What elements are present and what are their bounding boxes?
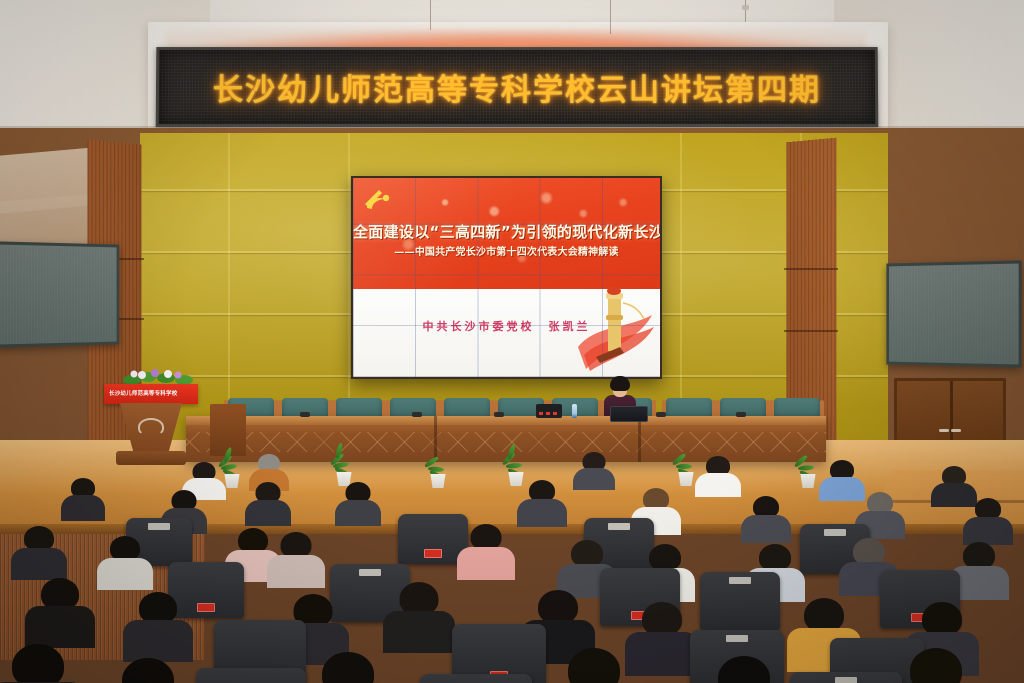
ceiling-wire <box>745 0 746 22</box>
water-bottle <box>572 404 577 418</box>
audience-area <box>0 452 1024 683</box>
seat-number-tag <box>824 529 846 536</box>
audience-member <box>382 582 456 650</box>
golden-column-graphic-icon <box>578 285 656 371</box>
microphone[interactable] <box>494 412 504 417</box>
auditorium-seat[interactable] <box>420 674 532 683</box>
podium-crest-icon <box>138 418 164 436</box>
door-center-seam <box>950 381 953 449</box>
audience-member <box>334 482 382 524</box>
acoustic-panel-left <box>0 241 119 347</box>
led-video-wall: 全面建设以“三高四新”为引领的现代化新长沙 ——中国共产党长沙市第十四次代表大会… <box>351 176 662 379</box>
audience-member <box>572 452 616 488</box>
audience-member <box>962 498 1014 542</box>
audience-member <box>740 496 792 540</box>
audience-member <box>456 524 516 578</box>
door-handle-icon[interactable] <box>951 429 961 432</box>
auditorium-seat[interactable] <box>790 672 902 683</box>
audience-member <box>696 656 792 683</box>
seat-number-label <box>197 603 215 612</box>
door-handle-icon[interactable] <box>939 429 949 432</box>
audience-member <box>122 592 194 658</box>
audience-member <box>888 648 984 683</box>
audience-member <box>244 482 292 524</box>
audience-member <box>300 652 396 683</box>
audience-member <box>694 456 742 494</box>
audience-member <box>96 536 154 588</box>
lecturer-hair <box>610 376 630 391</box>
acoustic-panel-right <box>886 260 1021 367</box>
audience-member <box>10 526 68 578</box>
seat-number-tag <box>726 635 748 642</box>
laptop[interactable] <box>610 406 648 422</box>
microphone[interactable] <box>656 412 666 417</box>
seat-number-label <box>424 549 442 558</box>
microphone[interactable] <box>412 412 422 417</box>
microphone[interactable] <box>736 412 746 417</box>
seat-number-tag <box>359 569 381 576</box>
auditorium-seat[interactable] <box>196 668 306 683</box>
sprinkler-head-icon <box>742 5 749 10</box>
audience-member <box>60 478 106 518</box>
control-console[interactable] <box>536 404 562 418</box>
ceiling-wire <box>610 0 611 34</box>
ceiling-wire <box>430 0 431 30</box>
audience-member <box>100 658 196 683</box>
seat-number-tag <box>835 677 857 683</box>
microphone[interactable] <box>300 412 310 417</box>
audience-member <box>24 578 96 644</box>
seat-number-tag <box>729 577 751 584</box>
audience-member <box>0 644 86 683</box>
seat-number-tag <box>148 523 170 530</box>
slide-subtitle: ——中国共产党长沙市第十四次代表大会精神解读 <box>353 243 660 258</box>
podium-banner: 长沙幼儿师范高等专科学校 <box>104 384 198 404</box>
wall-trim-line <box>784 330 838 332</box>
wall-trim-line <box>784 268 838 270</box>
audience-member <box>266 532 326 586</box>
podium-banner-text: 长沙幼儿师范高等专科学校 <box>109 389 195 397</box>
cpc-emblem-icon <box>361 186 393 214</box>
audience-member <box>516 480 568 524</box>
slide-title: 全面建设以“三高四新”为引领的现代化新长沙 <box>353 221 660 242</box>
led-banner-text: 长沙幼儿师范高等专科学校云山讲坛第四期 <box>159 65 875 109</box>
head-table-top <box>186 416 826 425</box>
seat-number-tag <box>608 523 630 530</box>
audience-member <box>546 648 642 683</box>
led-banner-display: 长沙幼儿师范高等专科学校云山讲坛第四期 <box>156 47 879 127</box>
auditorium-photo: 长沙幼儿师范高等专科学校云山讲坛第四期 <box>0 0 1024 683</box>
auditorium-seat[interactable] <box>700 572 780 630</box>
